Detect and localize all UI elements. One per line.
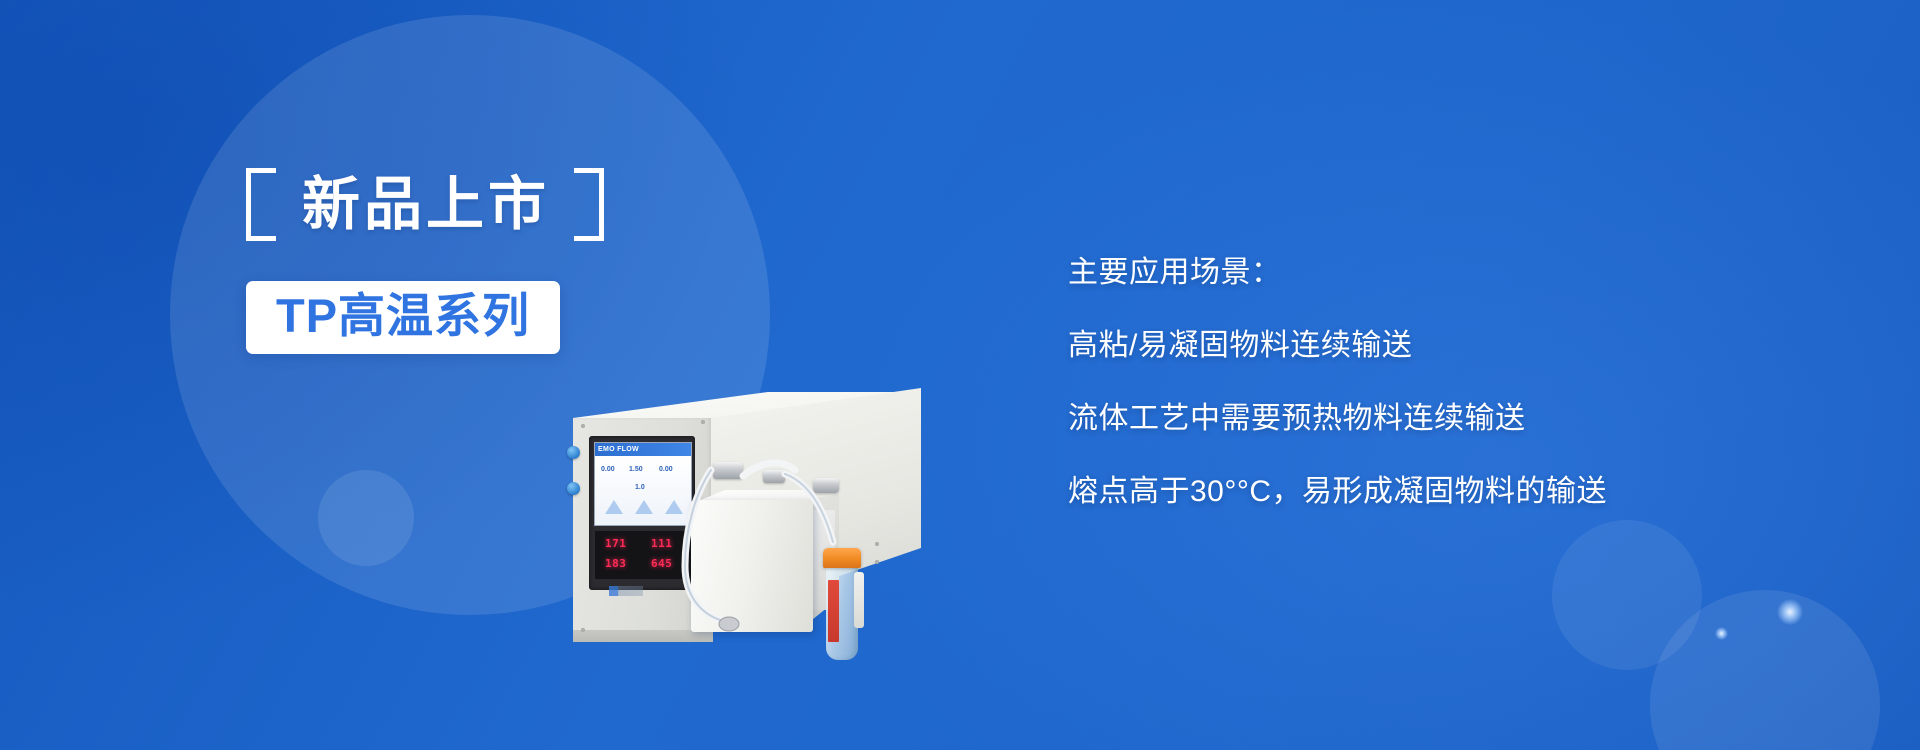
page-title: 新品上市 — [302, 174, 550, 235]
decor-circle-small — [318, 470, 414, 566]
features-block: 主要应用场景： 高粘/易凝固物料连续输送 流体工艺中需要预热物料连续输送 熔点高… — [1068, 258, 1607, 507]
bracket-right-icon — [574, 168, 604, 241]
bracket-left-icon — [246, 168, 276, 241]
headline-block: 新品上市 TP高温系列 — [246, 168, 886, 354]
series-badge-label: TP高温系列 — [276, 290, 530, 342]
feature-item-2: 流体工艺中需要预热物料连续输送 — [1068, 404, 1607, 434]
headline-bracket-wrap: 新品上市 — [246, 168, 604, 241]
node-glow-dot-1 — [1777, 599, 1803, 625]
series-badge[interactable]: TP高温系列 — [246, 281, 560, 354]
sample-vial-clip — [854, 572, 864, 628]
feature-item-3: 熔点高于30°°C，易形成凝固物料的输送 — [1068, 477, 1607, 507]
product-banner: EMO FLOW 0.00 1.50 0.00 1.0 171 111 183 … — [0, 0, 1920, 750]
decor-circle-right-2 — [1552, 520, 1702, 670]
feature-item-1: 高粘/易凝固物料连续输送 — [1068, 331, 1607, 361]
sample-vial-label — [828, 580, 839, 642]
node-glow-dot-2 — [1715, 627, 1728, 640]
tubing-overlay — [545, 390, 975, 720]
decor-circle-right-1 — [1650, 590, 1880, 750]
sample-vial-cap — [823, 548, 861, 568]
features-heading: 主要应用场景： — [1068, 258, 1607, 288]
product-image: EMO FLOW 0.00 1.50 0.00 1.0 171 111 183 … — [545, 390, 975, 720]
